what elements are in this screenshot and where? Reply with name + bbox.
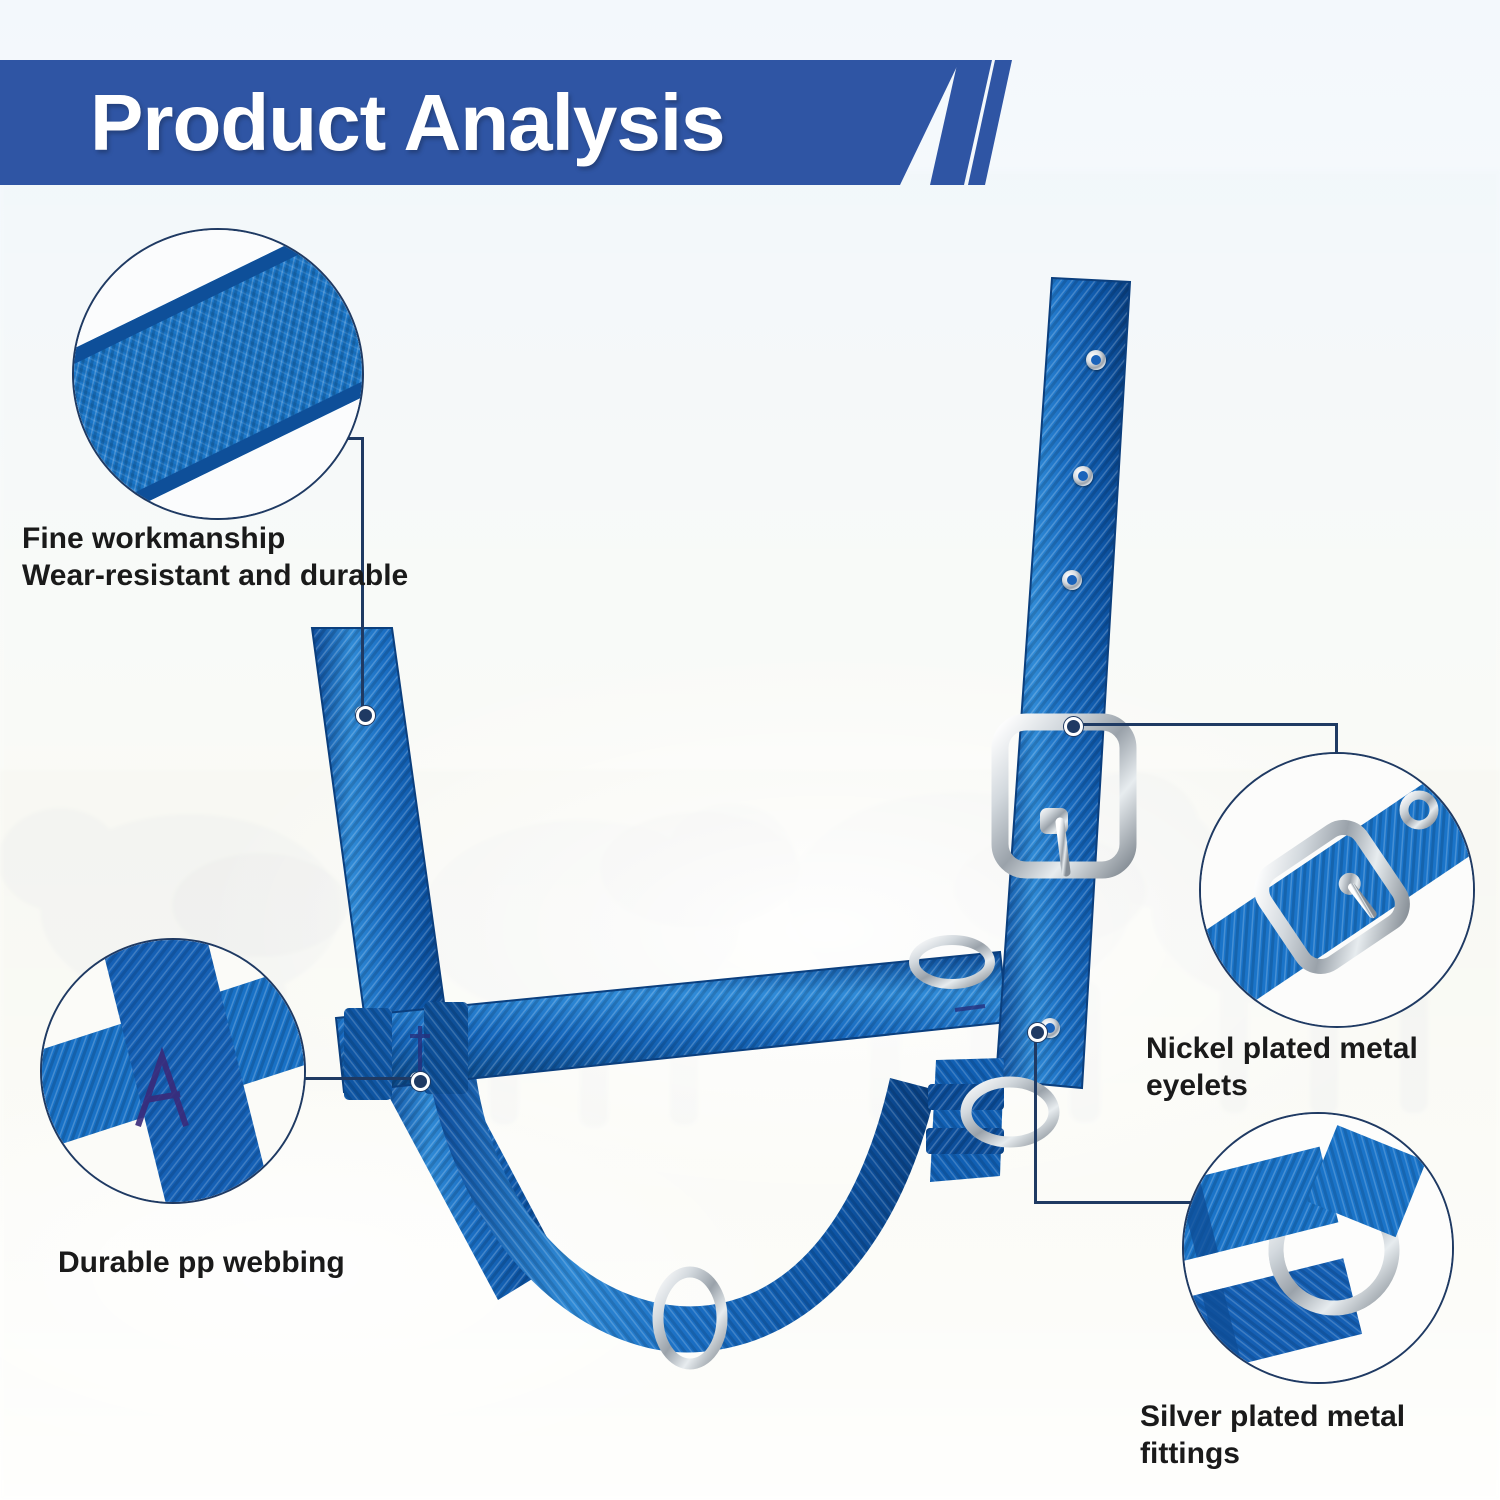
callout-label-silver-plated-metal-fittings: Silver plated metal fittings	[1140, 1398, 1500, 1472]
connector-line-2-horizontal	[300, 1077, 418, 1080]
connector-line-4-vertical	[1034, 1036, 1037, 1204]
connector-dot-1	[356, 706, 375, 725]
connector-dot-3	[1064, 717, 1083, 736]
detail-circle-fine-workmanship	[72, 228, 364, 520]
connector-dot-4	[1028, 1023, 1047, 1042]
detail-circle-silver-plated-metal-fittings	[1182, 1112, 1454, 1384]
product-eyelet-1	[1086, 350, 1106, 370]
callout-label-fine-workmanship: Fine workmanship Wear-resistant and dura…	[22, 520, 422, 594]
callout-label-durable-pp-webbing: Durable pp webbing	[58, 1244, 458, 1281]
connector-line-3-horizontal	[1072, 723, 1338, 726]
connector-dot-2	[411, 1072, 430, 1091]
detail-circle-durable-pp-webbing	[40, 938, 306, 1204]
callout-label-nickel-plated-metal-eyelets: Nickel plated metal eyelets	[1146, 1030, 1500, 1104]
connector-line-4-horizontal	[1034, 1201, 1204, 1204]
product-eyelet-3	[1062, 570, 1082, 590]
infographic-canvas: Product Analysis	[0, 0, 1500, 1500]
product-eyelet-2	[1073, 466, 1093, 486]
detail-circle-nickel-plated-metal-eyelets	[1199, 752, 1475, 1028]
